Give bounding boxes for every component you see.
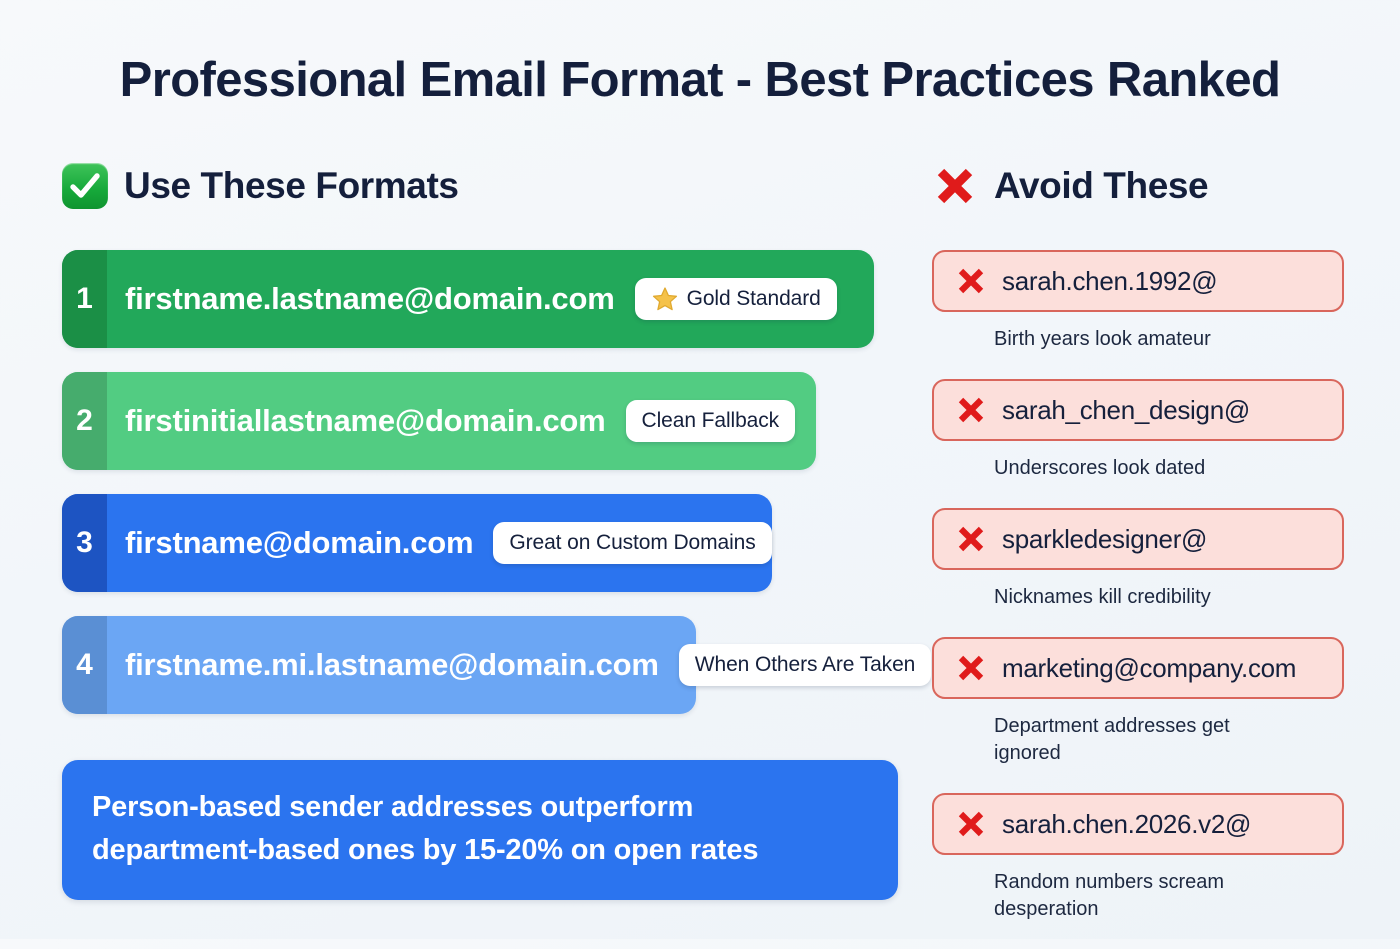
rank-number: 3	[76, 526, 93, 560]
avoid-note-text: Random numbers scream desperation	[994, 869, 1294, 923]
cross-mark-icon	[956, 266, 986, 296]
cross-mark-icon	[956, 653, 986, 683]
format-rank-row[interactable]: 2firstinitiallastname@domain.comClean Fa…	[62, 372, 816, 470]
rank-number: 4	[76, 648, 93, 682]
use-these-formats-column: Use These Formats 1firstname.lastname@do…	[62, 158, 892, 900]
format-badge-label: Clean Fallback	[642, 409, 780, 433]
rank-number-strip: 2	[62, 372, 107, 470]
format-email-text: firstname.lastname@domain.com	[125, 281, 615, 317]
white-heavy-check-mark-icon	[62, 163, 108, 209]
avoid-email-pill[interactable]: sarah.chen.1992@	[932, 250, 1344, 312]
cross-mark-icon	[932, 163, 978, 209]
rank-number-strip: 3	[62, 494, 107, 592]
avoid-email-text: sarah.chen.1992@	[1002, 266, 1217, 297]
format-badge-label: When Others Are Taken	[695, 653, 915, 677]
format-badge: Great on Custom Domains	[493, 522, 771, 564]
ranked-format-list: 1firstname.lastname@domain.comGold Stand…	[62, 250, 892, 714]
format-badge: Clean Fallback	[626, 400, 796, 442]
format-badge: When Others Are Taken	[679, 644, 931, 686]
rank-number: 1	[76, 282, 93, 316]
avoid-note-text: Department addresses get ignored	[994, 713, 1294, 767]
avoid-email-text: marketing@company.com	[1002, 653, 1296, 684]
callout-line-2: department-based ones by 15-20% on open …	[92, 829, 868, 872]
format-badge: Gold Standard	[635, 278, 837, 320]
avoid-note-text: Birth years look amateur	[994, 326, 1294, 353]
avoid-list: sarah.chen.1992@Birth years look amateur…	[932, 250, 1344, 923]
format-rank-row[interactable]: 3firstname@domain.comGreat on Custom Dom…	[62, 494, 772, 592]
format-email-text: firstname.mi.lastname@domain.com	[125, 647, 659, 683]
avoid-note-text: Nicknames kill credibility	[994, 584, 1294, 611]
avoid-section-header: Avoid These	[932, 158, 1344, 214]
cross-mark-icon	[956, 524, 986, 554]
format-badge-label: Gold Standard	[687, 287, 821, 311]
avoid-list-item: sarah_chen_design@Underscores look dated	[932, 379, 1344, 482]
avoid-email-text: sarah_chen_design@	[1002, 395, 1250, 426]
avoid-list-item: marketing@company.comDepartment addresse…	[932, 637, 1344, 767]
good-section-title: Use These Formats	[124, 165, 459, 207]
format-email-text: firstinitiallastname@domain.com	[125, 403, 606, 439]
format-rank-row[interactable]: 4firstname.mi.lastname@domain.comWhen Ot…	[62, 616, 696, 714]
avoid-email-pill[interactable]: sarah.chen.2026.v2@	[932, 793, 1344, 855]
rank-number-strip: 1	[62, 250, 107, 348]
star-icon	[651, 285, 679, 313]
open-rate-callout: Person-based sender addresses outperform…	[62, 760, 898, 900]
format-email-text: firstname@domain.com	[125, 525, 473, 561]
page-title: Professional Email Format - Best Practic…	[0, 52, 1400, 108]
avoid-email-pill[interactable]: marketing@company.com	[932, 637, 1344, 699]
avoid-note-text: Underscores look dated	[994, 455, 1294, 482]
cross-mark-icon	[956, 809, 986, 839]
avoid-section-title: Avoid These	[994, 165, 1208, 207]
avoid-these-column: Avoid These sarah.chen.1992@Birth years …	[932, 158, 1344, 949]
format-badge-label: Great on Custom Domains	[509, 531, 755, 555]
cross-mark-icon	[956, 395, 986, 425]
avoid-email-text: sparkledesigner@	[1002, 524, 1207, 555]
good-section-header: Use These Formats	[62, 158, 892, 214]
rank-number: 2	[76, 404, 93, 438]
avoid-email-pill[interactable]: sparkledesigner@	[932, 508, 1344, 570]
format-rank-row[interactable]: 1firstname.lastname@domain.comGold Stand…	[62, 250, 874, 348]
rank-number-strip: 4	[62, 616, 107, 714]
avoid-email-text: sarah.chen.2026.v2@	[1002, 809, 1251, 840]
avoid-list-item: sarah.chen.1992@Birth years look amateur	[932, 250, 1344, 353]
avoid-list-item: sarah.chen.2026.v2@Random numbers scream…	[932, 793, 1344, 923]
avoid-list-item: sparkledesigner@Nicknames kill credibili…	[932, 508, 1344, 611]
callout-line-1: Person-based sender addresses outperform	[92, 786, 868, 829]
avoid-email-pill[interactable]: sarah_chen_design@	[932, 379, 1344, 441]
